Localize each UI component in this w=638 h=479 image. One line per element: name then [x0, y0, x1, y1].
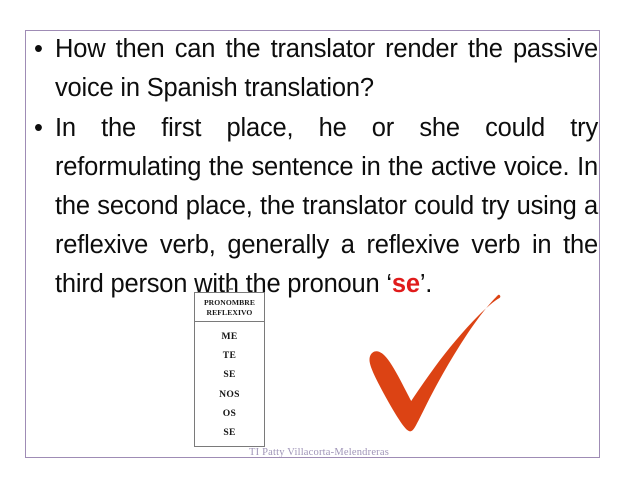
bullet-text-1: How then can the translator render the p… — [55, 30, 598, 108]
bullet-glyph-icon: • — [34, 109, 43, 148]
table-row: NOS — [195, 385, 264, 404]
table-tick-mark-icon — [228, 288, 233, 290]
table-row: TE — [195, 346, 264, 365]
table-header-line-2: REFLEXIVO — [197, 308, 262, 318]
bullet-glyph-icon: • — [34, 30, 43, 69]
table-row: SE — [195, 423, 264, 442]
bullet-text-2-before: In the first place, he or she could try … — [55, 114, 598, 298]
bullet-list: • How then can the translator render the… — [27, 30, 598, 305]
table-row: OS — [195, 404, 264, 423]
table-row: SE — [195, 365, 264, 384]
pronombre-reflexivo-table: PRONOMBRE REFLEXIVO ME TE SE NOS OS SE — [194, 292, 265, 447]
bullet-text-2: In the first place, he or she could try … — [55, 109, 598, 304]
list-item: • In the first place, he or she could tr… — [27, 109, 598, 304]
table-header: PRONOMBRE REFLEXIVO — [195, 293, 264, 322]
footer-credit: TI Patty Villacorta-Melendreras — [0, 446, 638, 459]
check-mark-icon — [368, 288, 508, 436]
table-body: ME TE SE NOS OS SE — [195, 322, 264, 442]
table-row: ME — [195, 327, 264, 346]
slide-canvas: • How then can the translator render the… — [0, 0, 638, 479]
list-item: • How then can the translator render the… — [27, 30, 598, 108]
table-header-line-1: PRONOMBRE — [197, 298, 262, 308]
